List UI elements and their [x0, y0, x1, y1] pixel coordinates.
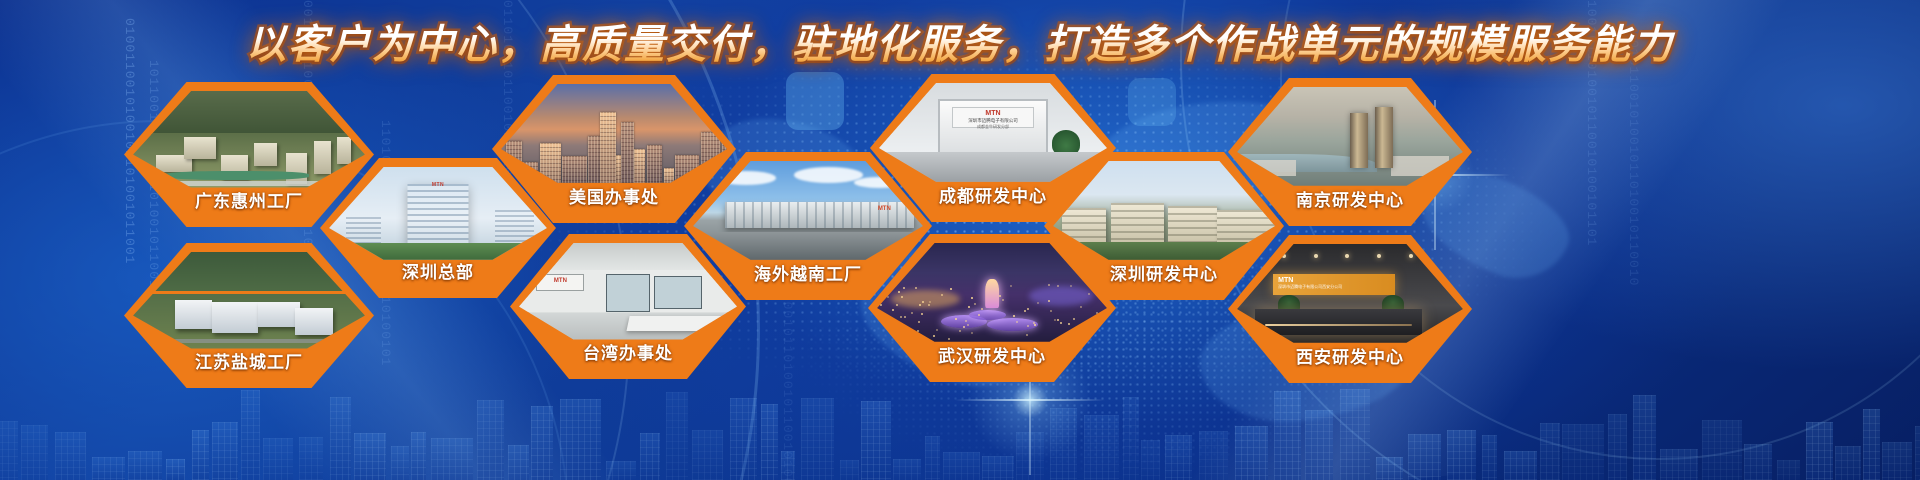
city-building [1702, 420, 1742, 480]
city-building [263, 438, 293, 480]
city-building [1165, 435, 1192, 480]
binary-strip-1: 0100110010100101101001011001 [122, 18, 137, 458]
city-building [354, 433, 386, 480]
photo-us-skyline [501, 84, 727, 183]
city-building [1633, 395, 1656, 480]
hex-label-wuhan-rd-center: 武汉研发中心 [877, 342, 1107, 367]
hex-inner-taiwan-office: MTN台湾办事处 [519, 243, 737, 370]
hex-photo-nanjing-rd-center [1237, 87, 1463, 186]
hex-label-overseas-vietnam-factory: 海外越南工厂 [693, 260, 923, 285]
city-building [241, 390, 260, 480]
city-building [166, 459, 185, 480]
city-building [560, 399, 601, 480]
city-building [1777, 460, 1800, 480]
hex-photo-taiwan-office: MTN [519, 243, 737, 340]
city-building [192, 430, 209, 480]
city-building [330, 397, 351, 480]
city-building [55, 432, 86, 480]
city-building [606, 461, 636, 480]
city-building [1863, 409, 1880, 480]
city-building [1408, 434, 1441, 480]
glow-square-1 [786, 72, 844, 130]
hex-label-shenzhen-headquarters: 深圳总部 [329, 258, 547, 283]
city-building [1141, 440, 1160, 480]
photo-aerial-campus [133, 91, 365, 188]
photo-taiwan-office: MTN [519, 243, 737, 340]
hex-label-nanjing-rd-center: 南京研发中心 [1237, 186, 1463, 211]
hex-card-guangdong-huizhou-factory[interactable]: 广东惠州工厂 [124, 82, 374, 227]
city-building [1806, 422, 1833, 480]
hex-label-xian-rd-center: 西安研发中心 [1237, 343, 1463, 368]
hex-inner-nanjing-rd-center: 南京研发中心 [1237, 87, 1463, 217]
hex-photo-chengdu-rd-center: MTN深圳市迈腾电子有限公司成都金牛研发分部 [879, 83, 1107, 182]
city-building [1608, 414, 1627, 480]
hex-inner-shenzhen-headquarters: MTN深圳总部 [329, 167, 547, 289]
hex-inner-usa-office: 美国办事处 [501, 84, 727, 214]
photo-shenzhen-campus [1053, 161, 1275, 260]
city-building [212, 422, 238, 480]
photo-industrial-plant [133, 252, 365, 349]
city-building [1482, 435, 1497, 480]
city-building [730, 398, 757, 480]
city-building [666, 392, 688, 480]
photo-office-tower: MTN [329, 167, 547, 260]
page-title: 以客户为中心，高质量交付，驻地化服务，打造多个作战单元的规模服务能力 [0, 12, 1920, 70]
photo-chengdu-entrance: MTN深圳市迈腾电子有限公司成都金牛研发分部 [879, 83, 1107, 182]
city-building [801, 398, 834, 480]
banner-stage: 0100110010100101101001011001 10110010100… [0, 0, 1920, 480]
city-building [1835, 446, 1861, 480]
city-building [1274, 391, 1301, 480]
hex-label-guangdong-huizhou-factory: 广东惠州工厂 [133, 187, 365, 212]
hex-label-taiwan-office: 台湾办事处 [519, 339, 737, 364]
city-building [640, 433, 660, 480]
city-building [531, 406, 553, 480]
hex-inner-xian-rd-center: MTN深圳市迈腾电子有限公司西安分公司西安研发中心 [1237, 244, 1463, 374]
city-building [692, 430, 723, 480]
photo-vietnam-factory: MTN [693, 161, 923, 260]
city-building [1744, 444, 1772, 480]
city-building [1660, 449, 1698, 480]
city-building [1084, 415, 1119, 480]
city-building [1882, 442, 1912, 480]
city-building [128, 451, 162, 480]
city-building [1540, 423, 1560, 480]
hex-inner-guangdong-huizhou-factory: 广东惠州工厂 [133, 91, 365, 218]
city-building [411, 432, 426, 480]
city-building [840, 460, 859, 480]
city-building [1562, 424, 1604, 480]
hex-inner-wuhan-rd-center: 武汉研发中心 [877, 243, 1107, 373]
city-building [943, 452, 980, 480]
city-building [1340, 389, 1370, 480]
binary-strip-7: 0101100101001011010010110010 [1626, 40, 1641, 340]
hex-photo-jiangsu-yancheng-factory [133, 252, 365, 349]
city-building [299, 437, 323, 480]
hex-photo-shenzhen-headquarters: MTN [329, 167, 547, 260]
hex-photo-xian-rd-center: MTN深圳市迈腾电子有限公司西安分公司 [1237, 244, 1463, 343]
hex-card-xian-rd-center[interactable]: MTN深圳市迈腾电子有限公司西安分公司西安研发中心 [1228, 235, 1472, 383]
hex-photo-overseas-vietnam-factory: MTN [693, 161, 923, 260]
hex-label-jiangsu-yancheng-factory: 江苏盐城工厂 [133, 348, 365, 373]
hex-inner-shenzhen-rd-center: 深圳研发中心 [1053, 161, 1275, 291]
city-building [1504, 451, 1537, 480]
hex-card-jiangsu-yancheng-factory[interactable]: 江苏盐城工厂 [124, 243, 374, 388]
city-building [21, 425, 48, 480]
city-building [861, 401, 891, 480]
city-building [0, 421, 18, 480]
city-building [1447, 430, 1476, 480]
city-building [925, 436, 940, 480]
city-building [893, 459, 921, 480]
hex-inner-overseas-vietnam-factory: MTN海外越南工厂 [693, 161, 923, 291]
city-building [781, 451, 795, 480]
city-building [1915, 426, 1920, 480]
hex-photo-shenzhen-rd-center [1053, 161, 1275, 260]
city-building [391, 446, 409, 480]
hex-photo-guangdong-huizhou-factory [133, 91, 365, 188]
city-building [1050, 408, 1077, 480]
city-building [92, 457, 125, 480]
city-building [761, 404, 778, 480]
city-building [982, 456, 1014, 480]
city-building [1199, 431, 1228, 480]
glow-square-2 [1128, 78, 1176, 126]
city-building [431, 438, 473, 480]
photo-nanjing-towers [1237, 87, 1463, 186]
city-building [1376, 457, 1403, 480]
city-building [1235, 426, 1268, 480]
city-building [1016, 432, 1044, 480]
hex-inner-jiangsu-yancheng-factory: 江苏盐城工厂 [133, 252, 365, 379]
city-building [508, 445, 529, 480]
city-building [477, 400, 504, 480]
hex-photo-usa-office [501, 84, 727, 183]
city-building [1123, 397, 1139, 480]
photo-xian-reception: MTN深圳市迈腾电子有限公司西安分公司 [1237, 244, 1463, 343]
city-silhouette [0, 384, 1920, 480]
city-building [1305, 410, 1333, 480]
